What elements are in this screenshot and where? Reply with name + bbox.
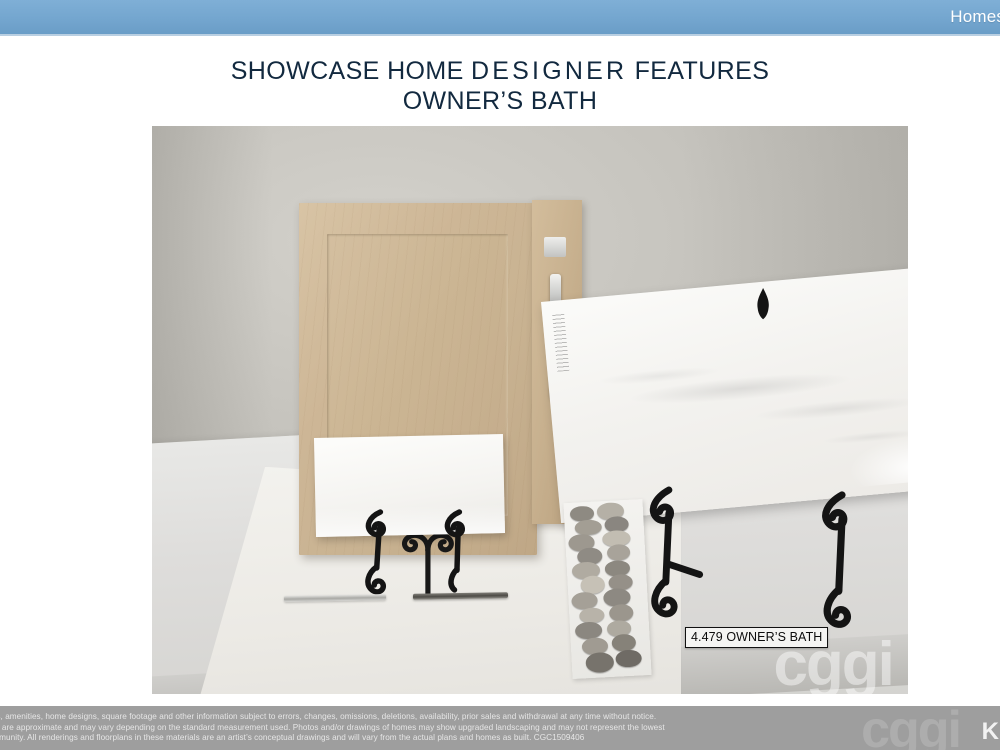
builder-logo: K	[982, 718, 998, 746]
page-title-line-1-part-b: DESIGNER	[471, 57, 627, 85]
page-title-line-2: OWNER’S BATH	[0, 86, 1000, 116]
footer-disclaimer-line-1: mesites, amenities, home designs, square…	[0, 712, 972, 723]
footer-disclaimer-line-3: he community. All renderings and floorpl…	[0, 733, 972, 744]
slab-gloss-highlight	[841, 430, 908, 488]
page-title-line-1-part-c: FEATURES	[627, 57, 769, 85]
page-title-line-1-part-a: SHOWCASE HOME	[231, 57, 471, 85]
page-title: SHOWCASE HOME DESIGNER FEATURES OWNER’S …	[0, 56, 1000, 116]
countertop-slab-large	[541, 266, 908, 523]
top-banner-label: Homesit	[950, 7, 1000, 27]
slide-canvas: Homesit SHOWCASE HOME DESIGNER FEATURES …	[0, 0, 1000, 750]
easel-finial-icon	[751, 288, 775, 319]
cabinet-pull-bracket-icon	[544, 237, 565, 257]
easel-leg-right-small	[428, 512, 485, 597]
footer-disclaimer-text: mesites, amenities, home designs, square…	[0, 712, 972, 744]
easel-leg-right-large	[798, 495, 881, 631]
design-selection-photo: 4.479 OWNER’S BATH cggi	[152, 126, 908, 694]
photo-wall-shadow-left	[152, 126, 273, 478]
footer-disclaimer-line-2: umbers are approximate and may vary depe…	[0, 723, 972, 734]
pebble-mosaic-tile-sample	[563, 499, 651, 679]
footer-disclaimer-bar: cggi mesites, amenities, home designs, s…	[0, 706, 1000, 750]
easel-leg-left-small	[349, 512, 406, 597]
top-banner-bar: Homesit	[0, 0, 1000, 36]
page-title-line-1: SHOWCASE HOME DESIGNER FEATURES	[0, 56, 1000, 86]
room-callout-label: 4.479 OWNER’S BATH	[685, 627, 828, 648]
